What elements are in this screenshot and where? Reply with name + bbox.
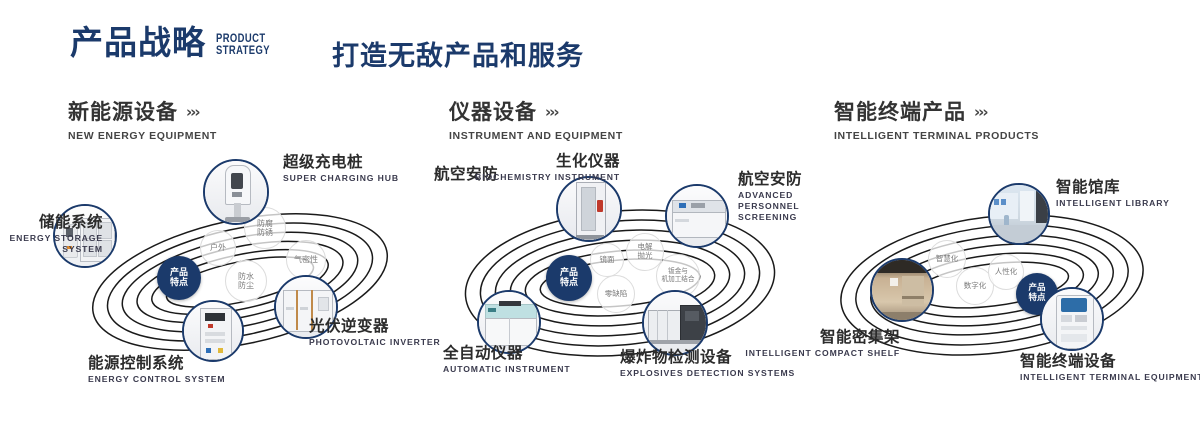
cluster-intelligent-terminal-products: 智慧化 数字化 人性化 产品 特点 智 xyxy=(800,150,1200,415)
feature-bubble: 镜面 xyxy=(590,243,624,277)
section-title-cn: 智能终端产品››› xyxy=(834,96,1039,126)
feature-bubble: 零缺陷 xyxy=(597,275,635,313)
node-label-biochemistry-instrument: 生化仪器 BIOCHEMISTRY INSTRUMENT xyxy=(455,152,620,183)
node-label-energy-storage: 储能系统 ENERGY STORAGE SYSTEM xyxy=(0,213,103,255)
product-strategy-infographic: 产品战略 PRODUCT STRATEGY 打造无敌产品和服务 新能源设备›››… xyxy=(0,0,1200,422)
node-label-intelligent-library: 智能馆库 INTELLIGENT LIBRARY xyxy=(1056,178,1170,209)
page-title-en-line2: STRATEGY xyxy=(216,45,270,57)
core-feature-bubble: 产品 特点 xyxy=(157,256,201,300)
node-image-biochemistry-instrument[interactable] xyxy=(556,176,622,242)
feature-bubble: 气密性 xyxy=(286,240,326,280)
cluster-new-energy-equipment: 产品 特点 户外 防腐 防锈 防水 防尘 气密性 xyxy=(40,150,440,415)
section-title-instrument: 仪器设备››› INSTRUMENT AND EQUIPMENT xyxy=(449,96,623,142)
node-label-automatic-instrument: 全自动仪器 AUTOMATIC INSTRUMENT xyxy=(443,344,570,375)
node-image-advanced-personnel-screening[interactable] xyxy=(665,184,729,248)
node-image-intelligent-compact-shelf[interactable] xyxy=(870,258,934,322)
page-title-en-line1: PRODUCT xyxy=(216,33,270,45)
feature-bubble: 防水 防尘 xyxy=(225,260,267,302)
node-label-super-charging-hub: 超级充电桩 SUPER CHARGING HUB xyxy=(283,153,399,184)
core-feature-bubble: 产品 特点 xyxy=(546,255,592,301)
page-title-cn: 产品战略 xyxy=(70,26,206,59)
chevron-right-icon: ››› xyxy=(974,103,987,121)
section-title-en: INTELLIGENT TERMINAL PRODUCTS xyxy=(834,130,1039,142)
section-title-intelligent: 智能终端产品››› INTELLIGENT TERMINAL PRODUCTS xyxy=(834,96,1039,142)
page-title-en: PRODUCT STRATEGY xyxy=(216,33,270,57)
section-title-new-energy: 新能源设备››› NEW ENERGY EQUIPMENT xyxy=(68,96,217,142)
node-image-intelligent-library[interactable] xyxy=(988,183,1050,245)
node-image-intelligent-terminal-equipment[interactable] xyxy=(1040,287,1104,351)
node-image-super-charging-hub[interactable] xyxy=(203,159,269,225)
section-title-en: INSTRUMENT AND EQUIPMENT xyxy=(449,130,623,142)
chevron-right-icon: ››› xyxy=(545,103,558,121)
node-image-energy-control-system[interactable] xyxy=(182,300,244,362)
page-subtitle: 打造无敌产品和服务 xyxy=(332,34,584,73)
chevron-right-icon: ››› xyxy=(186,103,199,121)
node-image-explosives-detection[interactable] xyxy=(642,290,708,356)
section-title-en: NEW ENERGY EQUIPMENT xyxy=(68,130,217,142)
node-label-intelligent-terminal-equipment: 智能终端设备 INTELLIGENT TERMINAL EQUIPMENT xyxy=(1020,352,1200,383)
feature-bubble: 户外 xyxy=(200,230,236,266)
cluster-instrument-and-equipment: 产品 特点 镜面 电解 抛光 零缺陷 钣金与 机加工结合 xyxy=(420,150,820,415)
node-label-energy-control-system: 能源控制系统 ENERGY CONTROL SYSTEM xyxy=(88,354,225,385)
section-title-cn: 仪器设备››› xyxy=(449,96,623,126)
section-title-cn: 新能源设备››› xyxy=(68,96,217,126)
node-label-intelligent-compact-shelf: 智能密集架 INTELLIGENT COMPACT SHELF xyxy=(720,328,900,359)
page-header: 产品战略 PRODUCT STRATEGY xyxy=(70,26,282,59)
